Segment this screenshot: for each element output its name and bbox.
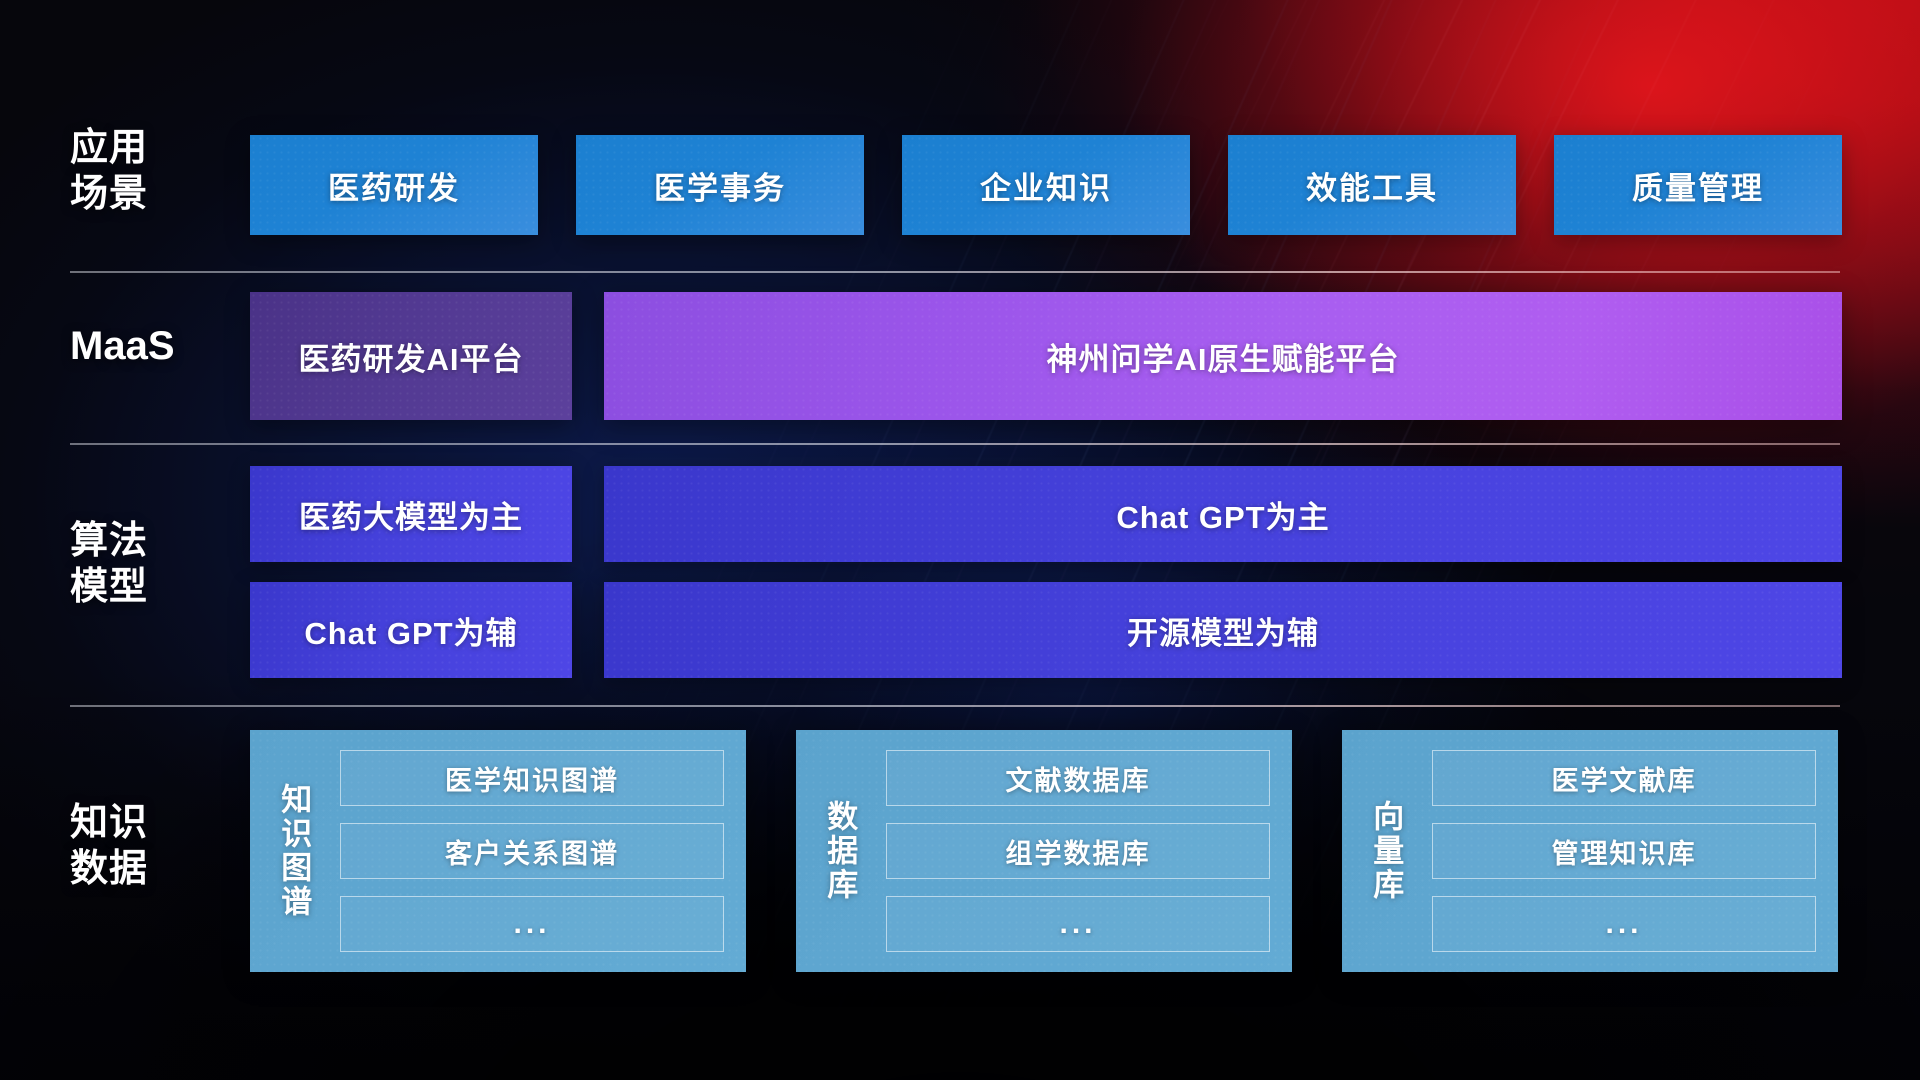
- row-label-application: 应用 场景: [70, 125, 240, 218]
- knowledge-item[interactable]: 文献数据库: [886, 750, 1270, 806]
- app-box-label: 企业知识: [980, 163, 1112, 208]
- app-box-label: 效能工具: [1306, 163, 1438, 208]
- knowledge-item[interactable]: 管理知识库: [1432, 823, 1816, 879]
- maas-box-drug-ai-platform[interactable]: 医药研发AI平台: [250, 292, 572, 420]
- knowledge-group-side-label: 向量库: [1354, 742, 1416, 960]
- row-label-line: 算法: [70, 518, 240, 564]
- app-box-4[interactable]: 效能工具: [1228, 135, 1516, 235]
- maas-box-label: 医药研发AI平台: [299, 334, 524, 379]
- knowledge-group-items: 医学知识图谱 客户关系图谱 ...: [324, 742, 734, 960]
- app-box-label: 质量管理: [1632, 163, 1764, 208]
- knowledge-group-side-label: 知识图谱: [262, 742, 324, 960]
- row-label-knowledge: 知识 数据: [70, 800, 240, 893]
- knowledge-item[interactable]: 客户关系图谱: [340, 823, 724, 879]
- app-box-2[interactable]: 医学事务: [576, 135, 864, 235]
- algo-box-label: Chat GPT为主: [1116, 492, 1329, 537]
- divider-maas-algorithm: [70, 443, 1840, 445]
- algo-box-chatgpt-primary[interactable]: Chat GPT为主: [604, 466, 1842, 562]
- knowledge-item[interactable]: 医学知识图谱: [340, 750, 724, 806]
- row-label-line: 场景: [70, 171, 240, 217]
- algo-box-chatgpt-secondary[interactable]: Chat GPT为辅: [250, 582, 572, 678]
- algo-box-label: 开源模型为辅: [1127, 608, 1319, 653]
- app-box-label: 医药研发: [328, 163, 460, 208]
- divider-algorithm-knowledge: [70, 705, 1840, 707]
- knowledge-group-database[interactable]: 数据库 文献数据库 组学数据库 ...: [796, 730, 1292, 972]
- app-box-1[interactable]: 医药研发: [250, 135, 538, 235]
- architecture-diagram: 应用 场景 医药研发 医学事务 企业知识 效能工具 质量管理 MaaS: [0, 0, 1920, 1080]
- algo-box-label: 医药大模型为主: [299, 492, 523, 537]
- knowledge-item[interactable]: 组学数据库: [886, 823, 1270, 879]
- knowledge-group-graph[interactable]: 知识图谱 医学知识图谱 客户关系图谱 ...: [250, 730, 746, 972]
- row-label-line: 知识: [70, 800, 240, 846]
- algo-box-opensource-secondary[interactable]: 开源模型为辅: [604, 582, 1842, 678]
- row-label-line: 模型: [70, 564, 240, 610]
- knowledge-group-items: 文献数据库 组学数据库 ...: [870, 742, 1280, 960]
- app-box-label: 医学事务: [654, 163, 786, 208]
- algo-box-drug-model-primary[interactable]: 医药大模型为主: [250, 466, 572, 562]
- divider-application-maas: [70, 271, 1840, 273]
- algo-box-label: Chat GPT为辅: [304, 608, 517, 653]
- knowledge-group-side-label: 数据库: [808, 742, 870, 960]
- maas-box-shenzhou-platform[interactable]: 神州问学AI原生赋能平台: [604, 292, 1842, 420]
- knowledge-item[interactable]: 医学文献库: [1432, 750, 1816, 806]
- app-box-3[interactable]: 企业知识: [902, 135, 1190, 235]
- knowledge-item-more[interactable]: ...: [886, 896, 1270, 952]
- knowledge-group-items: 医学文献库 管理知识库 ...: [1416, 742, 1826, 960]
- knowledge-item-more[interactable]: ...: [340, 896, 724, 952]
- row-label-line: MaaS: [70, 322, 240, 371]
- knowledge-group-vector[interactable]: 向量库 医学文献库 管理知识库 ...: [1342, 730, 1838, 972]
- row-label-algorithm: 算法 模型: [70, 518, 240, 611]
- row-label-line: 数据: [70, 846, 240, 892]
- knowledge-item-more[interactable]: ...: [1432, 896, 1816, 952]
- app-box-5[interactable]: 质量管理: [1554, 135, 1842, 235]
- row-label-line: 应用: [70, 125, 240, 171]
- row-label-maas: MaaS: [70, 322, 240, 371]
- maas-box-label: 神州问学AI原生赋能平台: [1047, 334, 1400, 379]
